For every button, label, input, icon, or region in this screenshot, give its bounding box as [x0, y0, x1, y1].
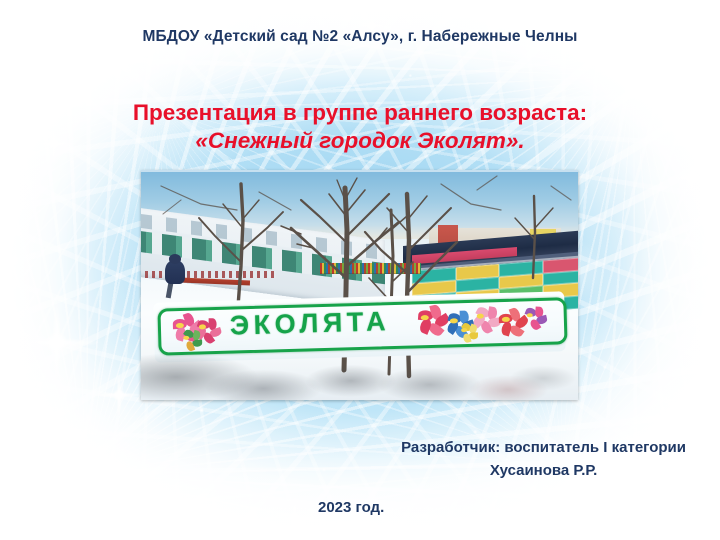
sparkle-star: [664, 150, 720, 206]
year-label: 2023 год.: [318, 499, 384, 516]
title-line-primary: Презентация в группе раннего возраста:: [0, 100, 720, 127]
author-role: Разработчик: воспитатель I категории: [401, 437, 686, 460]
sparkle-star: [60, 430, 170, 540]
sparkle-star: [648, 486, 712, 540]
sparkle-star: [430, 504, 474, 540]
presentation-slide: МБДОУ «Детский сад №2 «Алсу», г. Набереж…: [0, 0, 720, 540]
sparkle-star: [268, 492, 322, 540]
photo-top-bezel: [141, 170, 578, 172]
painted-flower: [517, 307, 542, 324]
sparkle-star: [8, 470, 78, 540]
title-line-subject: «Снежный городок Эколят».: [0, 127, 720, 156]
author-credit: Разработчик: воспитатель I категории Хус…: [401, 437, 686, 483]
sparkle-star: [96, 372, 142, 418]
painted-flower: [408, 307, 441, 329]
organization-title: МБДОУ «Детский сад №2 «Алсу», г. Набереж…: [0, 28, 720, 46]
page-title: Презентация в группе раннего возраста: «…: [0, 100, 720, 155]
photo-ground-debris: [141, 336, 578, 400]
sparkle-star: [14, 300, 100, 386]
author-name: Хусаинова Р.Р.: [401, 460, 686, 483]
slide-photo: ЭКОЛЯТА: [141, 170, 578, 400]
